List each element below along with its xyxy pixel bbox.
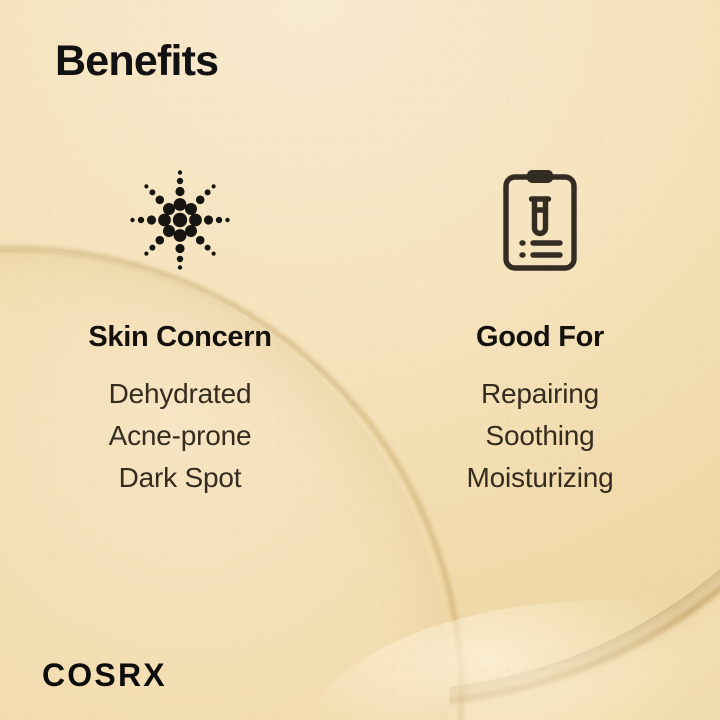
clipboard-test-tube-icon xyxy=(502,168,578,272)
col-icon-wrap xyxy=(121,160,239,280)
benefits-card: Benefits xyxy=(0,0,720,720)
list-item: Moisturizing xyxy=(467,457,614,499)
benefit-heading-good-for: Good For xyxy=(476,323,604,352)
benefit-column-skin-concern: Skin Concern Dehydrated Acne-prone Dark … xyxy=(0,160,360,499)
benefit-heading-skin-concern: Skin Concern xyxy=(88,323,271,352)
clipboard-clip xyxy=(527,170,553,183)
list-item: Acne-prone xyxy=(109,415,252,457)
brand-logo-cosrx: COSRX xyxy=(42,659,167,691)
benefit-list-skin-concern: Dehydrated Acne-prone Dark Spot xyxy=(109,373,252,499)
list-item: Dehydrated xyxy=(109,373,252,415)
list-item: Dark Spot xyxy=(109,457,252,499)
benefit-column-good-for: Good For Repairing Soothing Moisturizing xyxy=(360,160,720,499)
benefit-list-good-for: Repairing Soothing Moisturizing xyxy=(467,373,614,499)
list-item: Soothing xyxy=(467,415,614,457)
col-icon-wrap xyxy=(502,160,578,280)
list-item: Repairing xyxy=(467,373,614,415)
dotted-starburst-icon xyxy=(121,161,239,279)
page-title: Benefits xyxy=(55,39,218,84)
benefits-columns: Skin Concern Dehydrated Acne-prone Dark … xyxy=(0,160,720,499)
card-content: Benefits xyxy=(0,0,720,720)
